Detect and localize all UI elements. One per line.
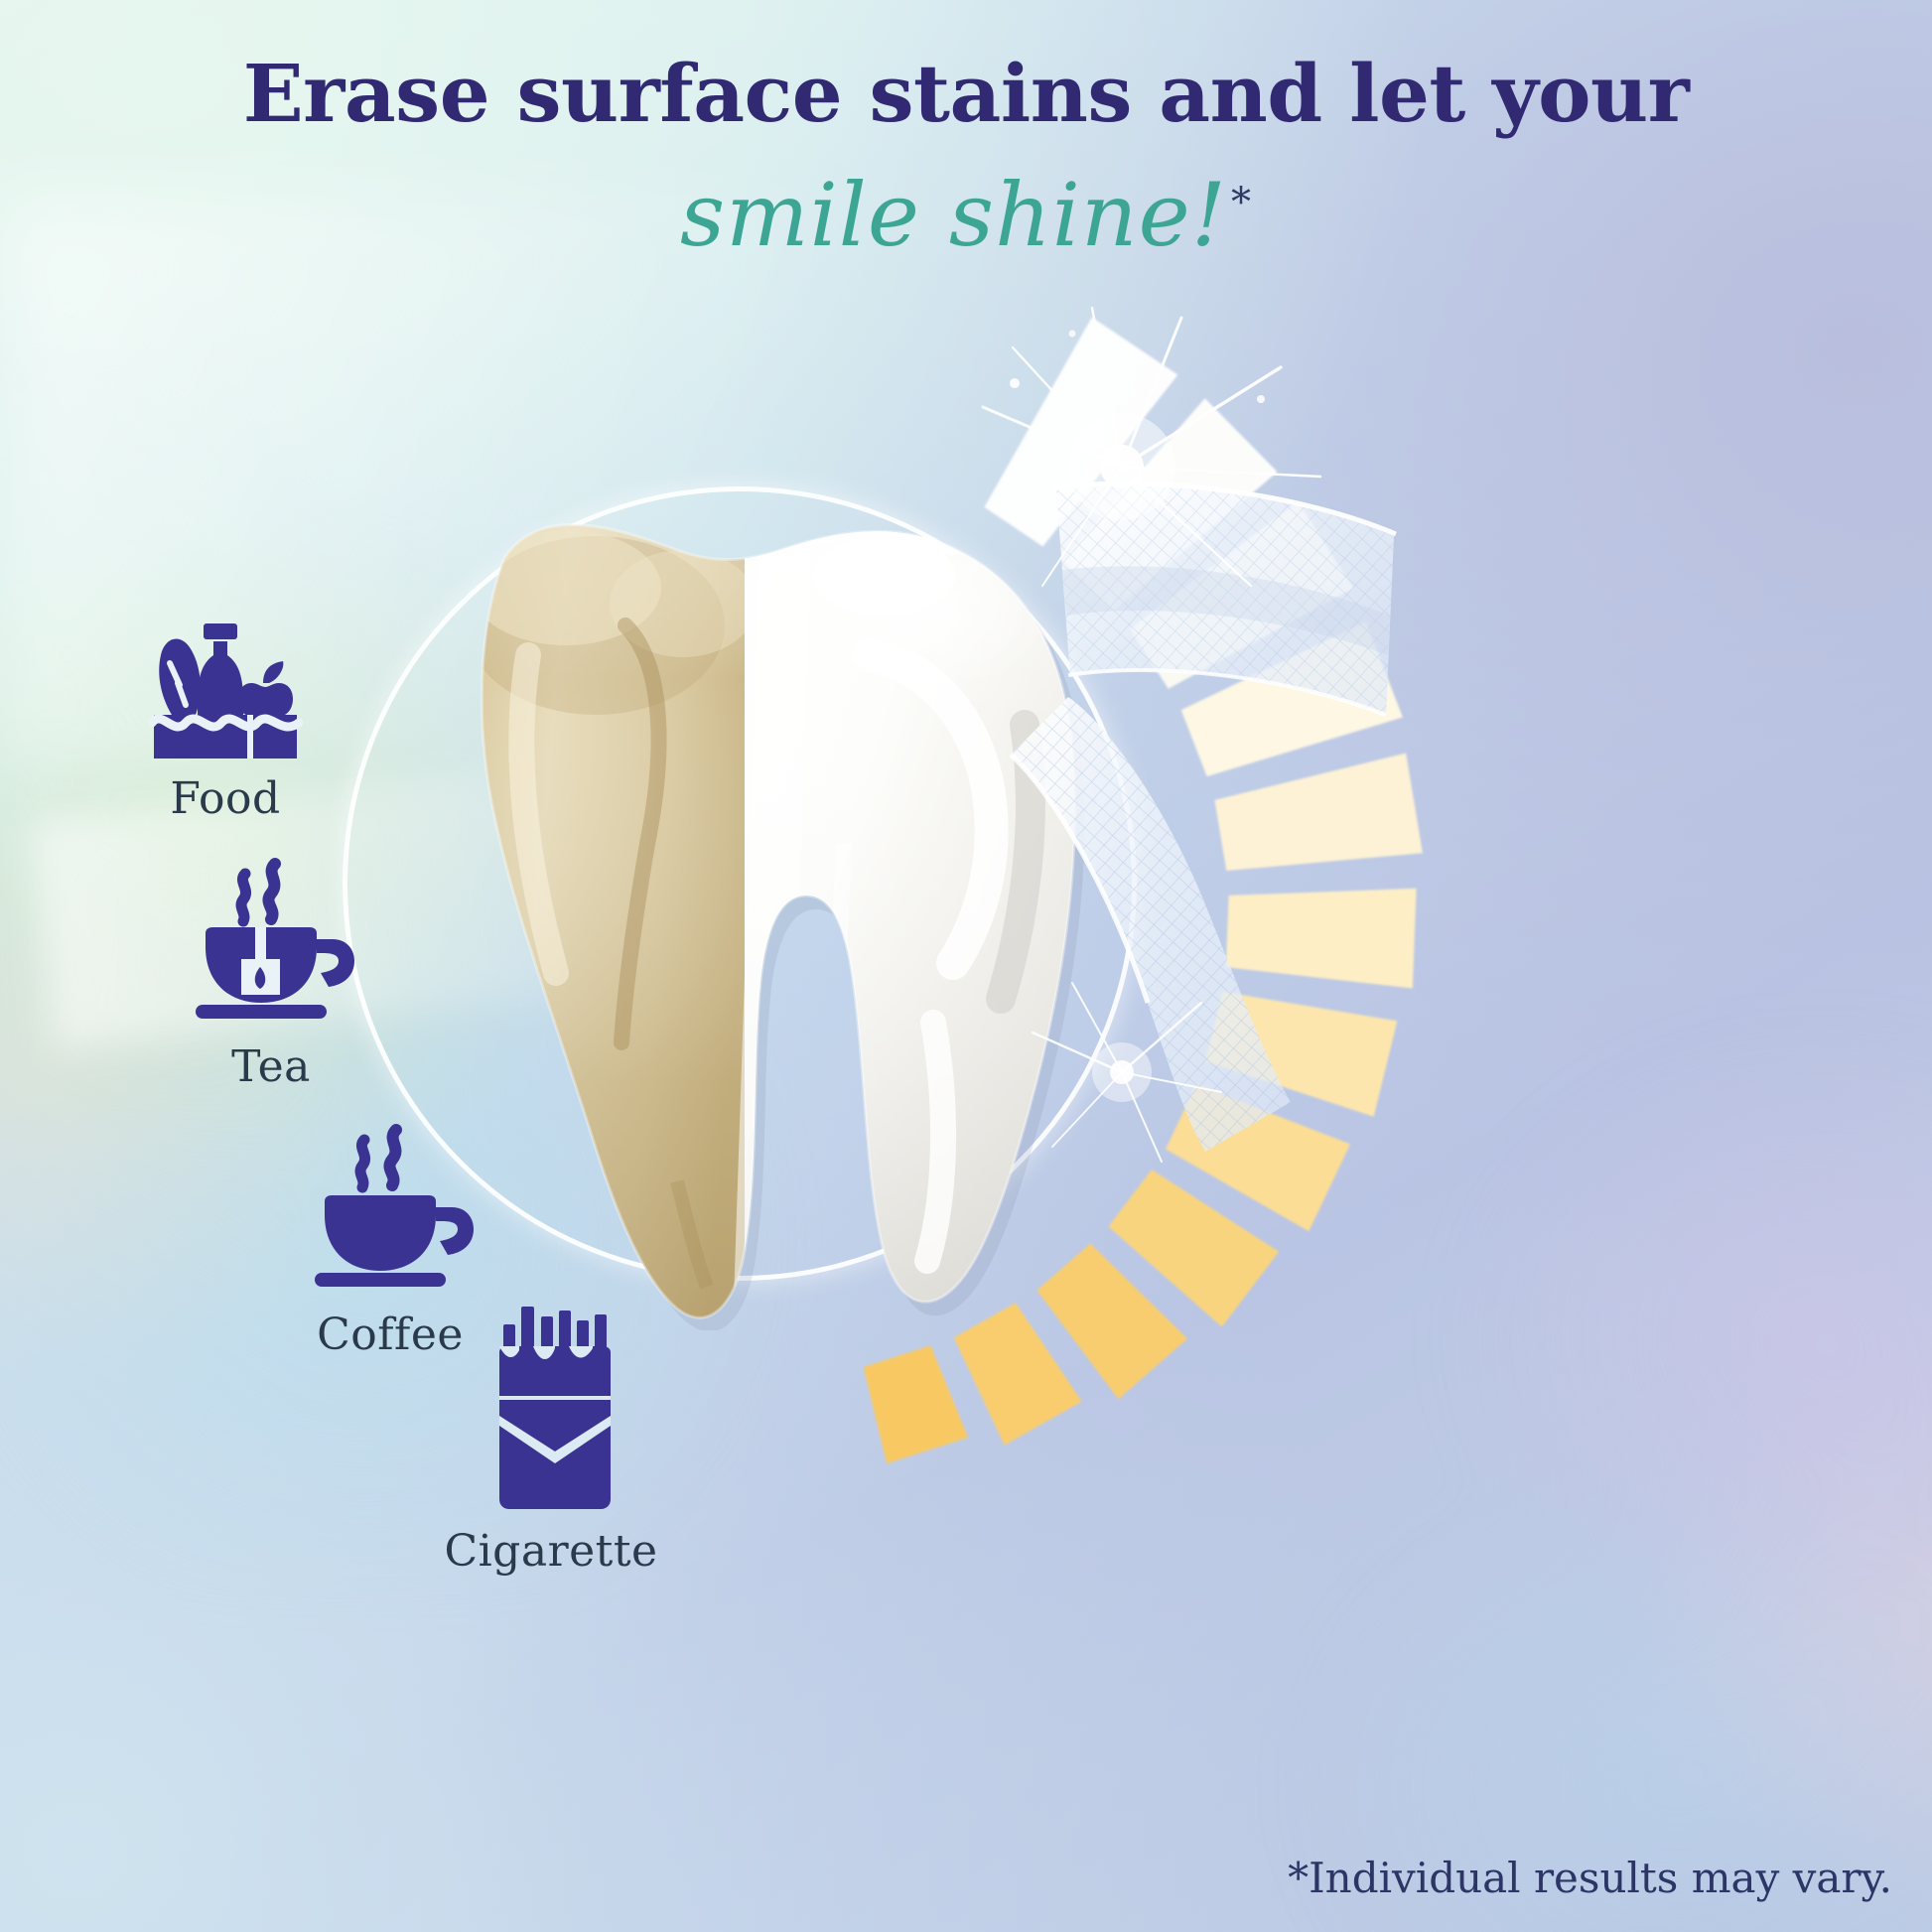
stain-source-tea-label: Tea (107, 1041, 435, 1092)
headline-secondary-text: smile shine! (680, 164, 1227, 266)
asterisk-marker: * (1231, 180, 1252, 225)
teacup-icon (107, 852, 435, 1032)
stain-source-cigarette-label: Cigarette (387, 1526, 715, 1577)
cigarette-pack-icon (387, 1301, 715, 1516)
coffee-cup-icon (226, 1120, 554, 1300)
grocery-bag-icon (62, 584, 389, 763)
shade-guide-segment (864, 1345, 968, 1463)
stain-source-food[interactable]: Food (62, 584, 389, 824)
ad-canvas: Erase surface stains and let your smile … (0, 0, 1932, 1932)
stain-source-tea[interactable]: Tea (107, 852, 435, 1092)
disclaimer-footnote: *Individual results may vary. (1288, 1854, 1892, 1902)
stain-source-cigarette[interactable]: Cigarette (387, 1301, 715, 1577)
stain-source-food-label: Food (62, 773, 389, 824)
headline-primary: Erase surface stains and let your (0, 52, 1932, 136)
sparkle-burst-top (923, 288, 1340, 645)
sparkle-burst-bottom (1013, 973, 1231, 1172)
headline-secondary: smile shine!* (0, 164, 1932, 266)
